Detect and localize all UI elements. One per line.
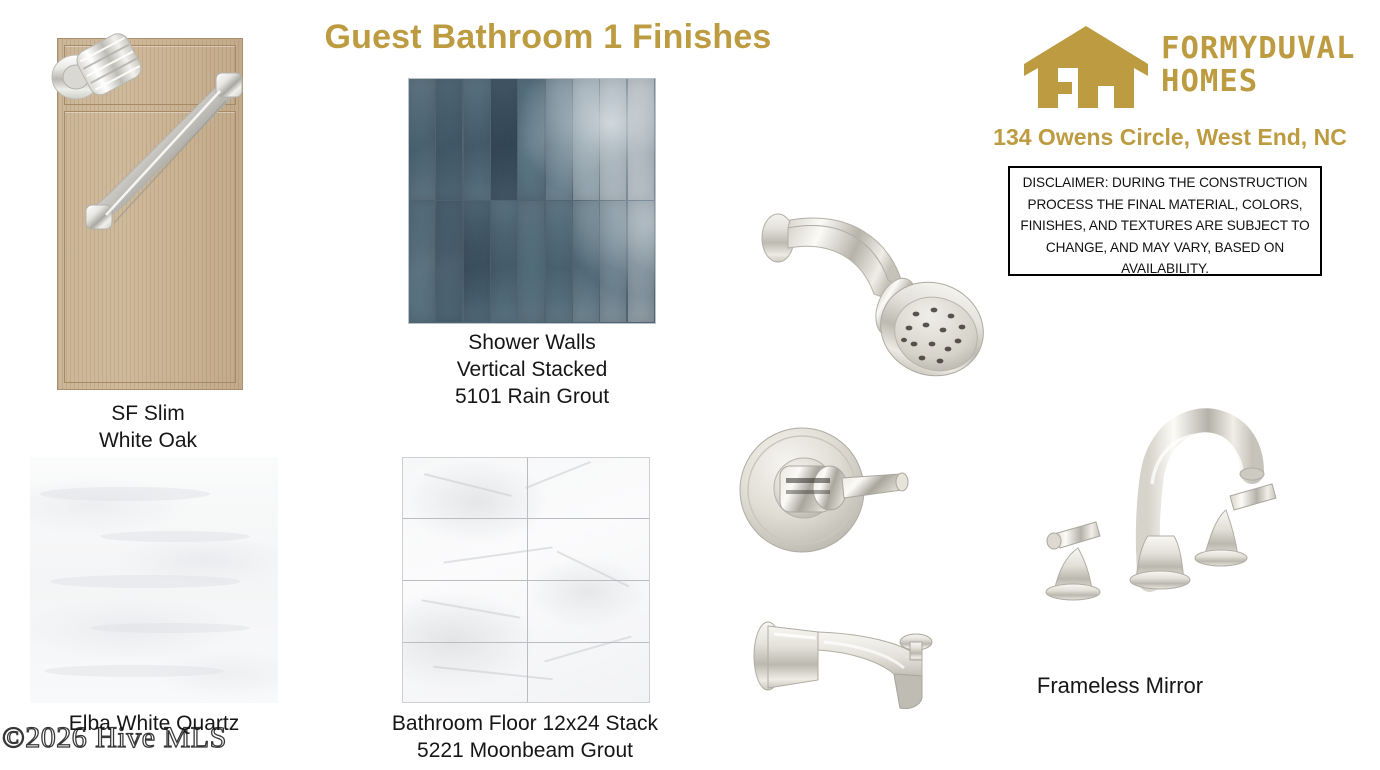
shower-wall-tile-cell	[409, 79, 435, 200]
finishes-board: Guest Bathroom 1 Finishes FORMYDUVAL HOM…	[0, 0, 1380, 770]
shower-wall-tile-cell	[546, 201, 572, 322]
page-title: Guest Bathroom 1 Finishes	[296, 18, 800, 57]
widespread-sink-faucet-fixture	[1004, 384, 1280, 610]
shower-wall-tile-cell	[600, 79, 626, 200]
mls-watermark: ©2026 Hive MLS	[2, 722, 227, 754]
brand-wordmark: FORMYDUVAL HOMES	[1161, 32, 1352, 98]
company-address: 134 Owens Circle, West End, NC	[960, 124, 1380, 151]
shower-valve-trim-fixture	[724, 412, 936, 578]
tub-spout-fixture	[744, 598, 958, 714]
shower-wall-caption: Shower Walls Vertical Stacked 5101 Rain …	[398, 329, 666, 410]
floor-tile-swatch	[402, 457, 650, 703]
shower-wall-tile-cell	[546, 79, 572, 200]
shower-wall-tile-cell	[491, 201, 517, 322]
shower-wall-tile-cell	[436, 201, 462, 322]
shower-wall-tile-cell	[628, 201, 654, 322]
shower-wall-tile-cell	[464, 201, 490, 322]
brand-logo: FORMYDUVAL HOMES	[1022, 24, 1380, 116]
shower-wall-tile-cell	[518, 79, 544, 200]
cabinet-caption: SF Slim White Oak	[22, 400, 274, 454]
brand-name-line-2: HOMES	[1161, 65, 1355, 98]
shower-wall-tile-cell	[600, 201, 626, 322]
shower-wall-tile-cell	[628, 79, 654, 200]
floor-tile-caption: Bathroom Floor 12x24 Stack 5221 Moonbeam…	[372, 710, 678, 764]
shower-wall-tile-cell	[573, 79, 599, 200]
brand-name-line-1: FORMYDUVAL	[1161, 32, 1355, 65]
shower-wall-tile-cell	[491, 79, 517, 200]
disclaimer-text: DISCLAIMER: DURING THE CONSTRUCTION PROC…	[1014, 172, 1316, 280]
frameless-mirror-caption: Frameless Mirror	[1000, 672, 1240, 699]
shower-wall-tile-cell	[573, 201, 599, 322]
cabinet-pull-handle-hardware	[64, 55, 244, 245]
shower-wall-tile-cell	[518, 201, 544, 322]
shower-head-fixture	[744, 194, 996, 390]
shower-wall-tile-swatch	[408, 78, 656, 324]
shower-wall-tile-cell	[464, 79, 490, 200]
house-fh-logo-icon	[1022, 24, 1150, 108]
shower-wall-tile-cell	[409, 201, 435, 322]
quartz-slab-swatch	[30, 457, 278, 703]
shower-wall-tile-cell	[436, 79, 462, 200]
